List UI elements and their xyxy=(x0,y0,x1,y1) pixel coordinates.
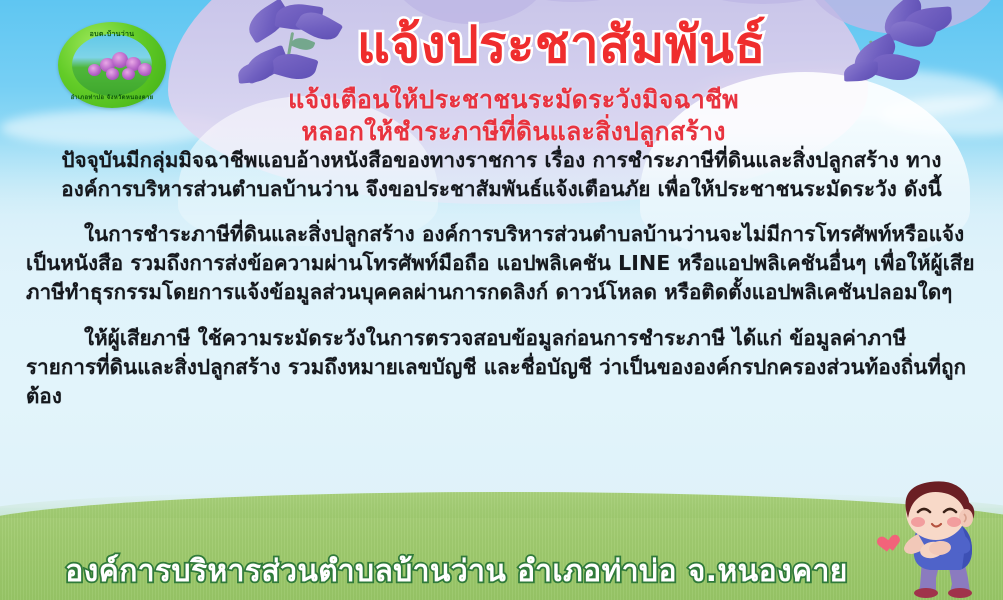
subtitle-line-1: แจ้งเตือนให้ประชาชนระมัดระวังมิจฉาชีพ xyxy=(24,84,1003,116)
purple-leaf-icon xyxy=(838,2,968,94)
paragraph-1: ปัจจุบันมีกลุ่มมิจฉาชีพแอบอ้างหนังสือของ… xyxy=(26,146,977,204)
lavender-bump xyxy=(390,0,550,24)
logo-flower-cluster xyxy=(82,50,142,84)
paragraph-3: ให้ผู้เสียภาษี ใช้ความระมัดระวังในการตรว… xyxy=(26,324,977,411)
bowing-boy-icon xyxy=(878,478,1003,600)
footer-organization-name: องค์การบริหารส่วนตำบลบ้านว่าน อำเภอท่าบ่… xyxy=(65,554,847,589)
footer-container: องค์การบริหารส่วนตำบลบ้านว่าน อำเภอท่าบ่… xyxy=(0,548,1003,595)
announcement-poster: อบต.บ้านว่าน อำเภอท่าบ่อ จังหวัดหนองคาย … xyxy=(0,0,1003,600)
grass-highlight xyxy=(0,492,1003,518)
subtitle-line-2: หลอกให้ชำระภาษีที่ดินและสิ่งปลูกสร้าง xyxy=(24,116,1003,148)
subtitle-container: แจ้งเตือนให้ประชาชนระมัดระวังมิจฉาชีพ หล… xyxy=(0,84,1003,148)
logo-top-text: อบต.บ้านว่าน xyxy=(58,29,166,40)
body-text-block: ปัจจุบันมีกลุ่มมิจฉาชีพแอบอ้างหนังสือของ… xyxy=(26,146,977,427)
paragraph-2: ในการชำระภาษีที่ดินและสิ่งปลูกสร้าง องค์… xyxy=(26,220,977,307)
